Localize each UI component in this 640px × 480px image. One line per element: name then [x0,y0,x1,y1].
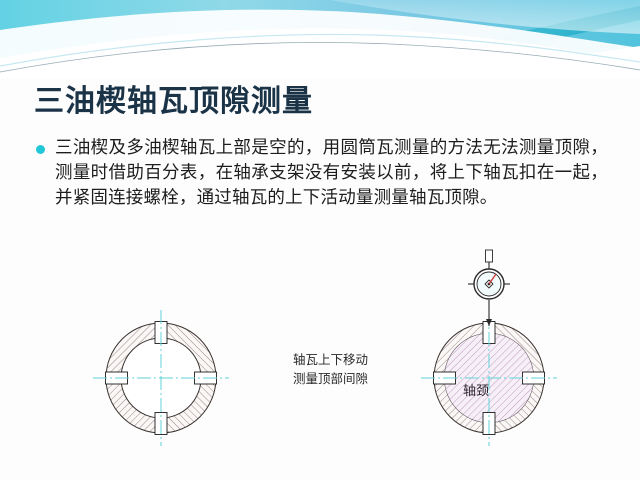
bullet-item: 三油楔及多油楔轴瓦上部是空的，用圆筒瓦测量的方法无法测量顶隙，测量时借助百分表，… [36,136,608,211]
slide-canvas: 三油楔轴瓦顶隙测量 三油楔及多油楔轴瓦上部是空的，用圆筒瓦测量的方法无法测量顶隙… [0,0,640,480]
journal-label: 轴颈 [463,380,489,399]
bearing-shell-cross-section [74,288,249,473]
bullet-paragraph: 三油楔及多油楔轴瓦上部是空的，用圆筒瓦测量的方法无法测量顶隙，测量时借助百分表，… [55,136,608,211]
page-title: 三油楔轴瓦顶隙测量 [34,76,313,120]
dial-post [486,250,493,262]
annotation-line-1: 轴瓦上下移动 [293,350,368,369]
bearing-with-journal-and-dial-indicator [410,248,595,478]
body-content: 三油楔及多油楔轴瓦上部是空的，用圆筒瓦测量的方法无法测量顶隙，测量时借助百分表，… [36,136,608,211]
bullet-dot-icon [36,145,45,154]
annotation-line-2: 测量顶部间隙 [293,369,368,388]
annotation-measure-note: 轴瓦上下移动 测量顶部间隙 [293,350,368,388]
decorative-wave-band [0,0,640,78]
